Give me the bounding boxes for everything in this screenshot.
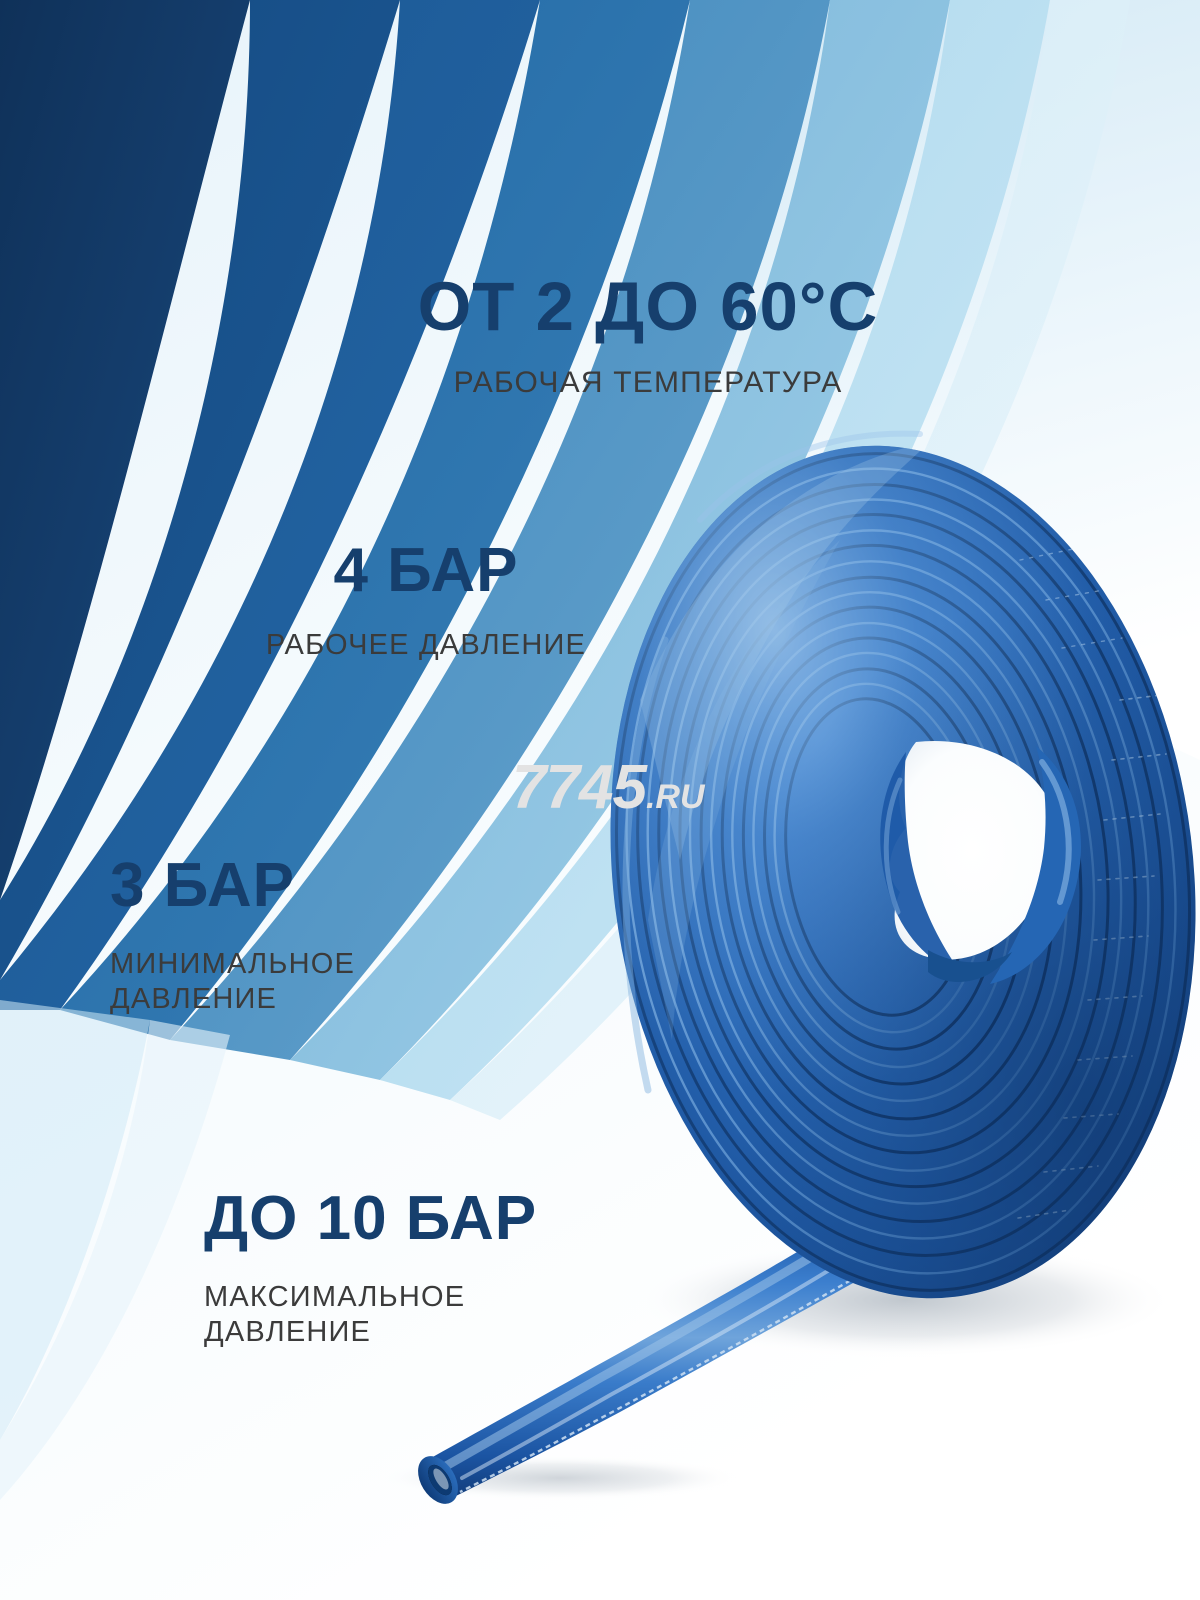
infographic-canvas: 7745.RU ОТ 2 ДО 60°C РАБОЧАЯ ТЕМПЕРАТУРА… (0, 0, 1200, 1600)
watermark-text: 7745 (512, 753, 646, 822)
site-watermark: 7745.RU (512, 752, 705, 823)
stat-value-temperature: ОТ 2 ДО 60°C (318, 272, 978, 341)
stat-block-temperature: ОТ 2 ДО 60°C РАБОЧАЯ ТЕМПЕРАТУРА (318, 272, 978, 402)
stat-label-temperature: РАБОЧАЯ ТЕМПЕРАТУРА (318, 365, 978, 402)
stat-value-max-pressure: ДО 10 БАР (204, 1188, 634, 1250)
stat-block-min-pressure: 3 БАР МИНИМАЛЬНОЕ ДАВЛЕНИЕ (110, 855, 440, 1018)
stat-label-working-pressure: РАБОЧЕЕ ДАВЛЕНИЕ (206, 628, 646, 663)
stat-label-min-pressure: МИНИМАЛЬНОЕ ДАВЛЕНИЕ (110, 947, 440, 1018)
stat-value-working-pressure: 4 БАР (206, 540, 646, 602)
stat-label-max-pressure: МАКСИМАЛЬНОЕ ДАВЛЕНИЕ (204, 1280, 634, 1351)
stat-value-min-pressure: 3 БАР (110, 855, 440, 917)
watermark-suffix: .RU (646, 778, 705, 816)
stat-block-max-pressure: ДО 10 БАР МАКСИМАЛЬНОЕ ДАВЛЕНИЕ (204, 1188, 634, 1351)
stat-block-working-pressure: 4 БАР РАБОЧЕЕ ДАВЛЕНИЕ (206, 540, 646, 663)
